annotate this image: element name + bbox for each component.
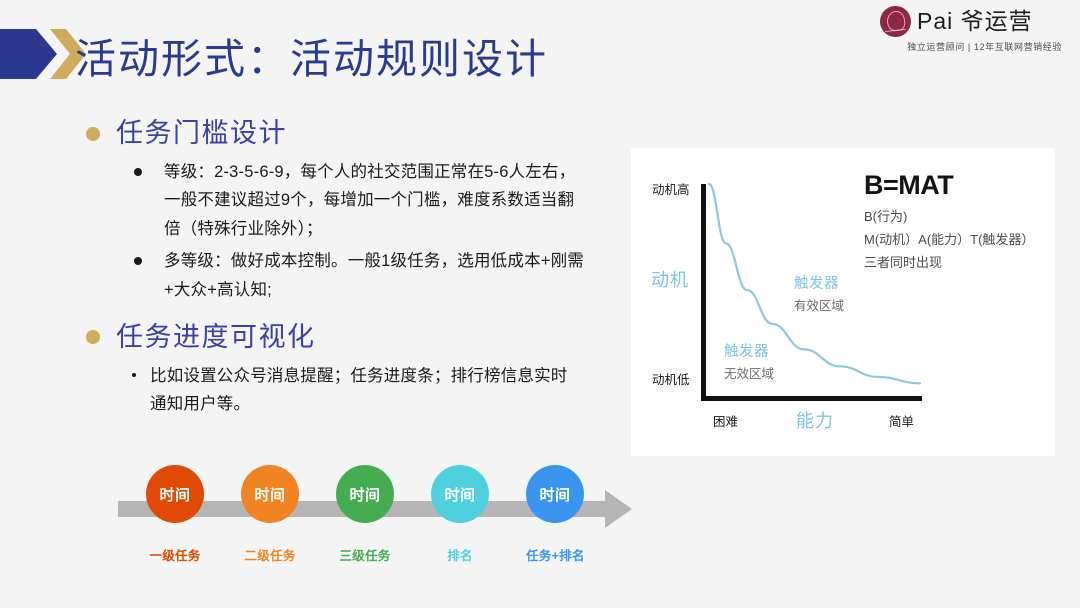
list-item-text: 等级：2-3-5-6-9，每个人的社交范围正常在5-6人左右，一般不建议超过9个… bbox=[164, 158, 588, 243]
x-axis-label: 能力 bbox=[796, 407, 834, 433]
x-tick-hard: 困难 bbox=[713, 411, 738, 430]
page-title: 活动形式：活动规则设计 bbox=[75, 25, 548, 85]
list-item: 等级：2-3-5-6-9，每个人的社交范围正常在5-6人左右，一般不建议超过9个… bbox=[86, 158, 616, 243]
task-timeline: 时间 一级任务 时间 二级任务 时间 三级任务 时间 排名 时间 任务+排名 bbox=[118, 465, 638, 570]
logo-name: Pai 爷运营 bbox=[917, 10, 1033, 33]
section-heading-2: 任务进度可视化 bbox=[86, 322, 616, 353]
list-item-text: 多等级：做好成本控制。一般1级任务，选用低成本+刚需+大众+高认知; bbox=[164, 247, 588, 304]
x-tick-easy: 简单 bbox=[889, 411, 914, 430]
timeline-node-label: 任务+排名 bbox=[526, 545, 584, 564]
chart-x-axis bbox=[701, 396, 922, 401]
formula-line-2: M(动机）A(能力）T(触发器） bbox=[864, 229, 1034, 252]
chart-y-axis bbox=[701, 184, 706, 398]
chart-formula-lines: B(行为) M(动机）A(能力）T(触发器） 三者同时出现 bbox=[864, 206, 1034, 274]
y-tick-high: 动机高 bbox=[652, 179, 690, 198]
formula-line-3: 三者同时出现 bbox=[864, 252, 1034, 275]
timeline-node-circle: 时间 bbox=[241, 465, 299, 523]
timeline-node-label: 一级任务 bbox=[146, 545, 204, 564]
formula-line-1: B(行为) bbox=[864, 206, 1034, 229]
bmat-chart-card: 动机高 动机低 动机 困难 能力 简单 触发器 有效区域 触发器 无效区域 B=… bbox=[631, 148, 1055, 456]
content-body: 任务门槛设计 等级：2-3-5-6-9，每个人的社交范围正常在5-6人左右，一般… bbox=[86, 118, 616, 423]
timeline-arrow-icon bbox=[605, 490, 632, 528]
chart-title: B=MAT bbox=[864, 170, 953, 201]
brand-logo: Pai 爷运营 独立运营顾问 | 12年互联网营销经验 bbox=[880, 6, 1062, 52]
timeline-node-label: 二级任务 bbox=[241, 545, 299, 564]
logo-subtitle: 独立运营顾问 | 12年互联网营销经验 bbox=[880, 40, 1062, 53]
timeline-node-1[interactable]: 时间 一级任务 bbox=[146, 465, 204, 564]
timeline-node-circle: 时间 bbox=[431, 465, 489, 523]
bullet-dot-icon bbox=[132, 373, 136, 377]
y-tick-low: 动机低 bbox=[652, 369, 690, 388]
section-heading-1: 任务门槛设计 bbox=[86, 118, 616, 149]
annotation-trigger-effective-sub: 有效区域 bbox=[794, 295, 844, 314]
section-heading-label: 任务进度可视化 bbox=[116, 322, 316, 353]
pai-seal-icon bbox=[880, 6, 911, 37]
bullet-dot-icon bbox=[134, 257, 142, 265]
bullet-dot-icon bbox=[86, 127, 100, 141]
timeline-node-4[interactable]: 时间 排名 bbox=[431, 465, 489, 564]
timeline-node-2[interactable]: 时间 二级任务 bbox=[241, 465, 299, 564]
annotation-trigger-ineffective-sub: 无效区域 bbox=[724, 363, 774, 382]
list-item: 多等级：做好成本控制。一般1级任务，选用低成本+刚需+大众+高认知; bbox=[86, 247, 616, 304]
timeline-node-3[interactable]: 时间 三级任务 bbox=[336, 465, 394, 564]
y-axis-label: 动机 bbox=[651, 266, 689, 292]
section-heading-label: 任务门槛设计 bbox=[116, 118, 287, 149]
list-item-text: 比如设置公众号消息提醒；任务进度条；排行榜信息实时通知用户等。 bbox=[150, 362, 574, 419]
timeline-node-circle: 时间 bbox=[336, 465, 394, 523]
timeline-node-label: 排名 bbox=[431, 545, 489, 564]
slide-canvas: 活动形式：活动规则设计 Pai 爷运营 独立运营顾问 | 12年互联网营销经验 … bbox=[0, 0, 1080, 608]
list-item: 比如设置公众号消息提醒；任务进度条；排行榜信息实时通知用户等。 bbox=[86, 362, 616, 419]
bullet-dot-icon bbox=[86, 330, 100, 344]
timeline-node-5[interactable]: 时间 任务+排名 bbox=[526, 465, 584, 564]
annotation-trigger-ineffective-title: 触发器 bbox=[724, 340, 769, 361]
timeline-node-circle: 时间 bbox=[146, 465, 204, 523]
timeline-node-label: 三级任务 bbox=[336, 545, 394, 564]
header-arrow-icon bbox=[0, 29, 86, 79]
annotation-trigger-effective-title: 触发器 bbox=[794, 272, 839, 293]
timeline-node-circle: 时间 bbox=[526, 465, 584, 523]
bullet-dot-icon bbox=[134, 168, 142, 176]
section-2-list: 比如设置公众号消息提醒；任务进度条；排行榜信息实时通知用户等。 bbox=[86, 362, 616, 419]
section-1-list: 等级：2-3-5-6-9，每个人的社交范围正常在5-6人左右，一般不建议超过9个… bbox=[86, 158, 616, 304]
